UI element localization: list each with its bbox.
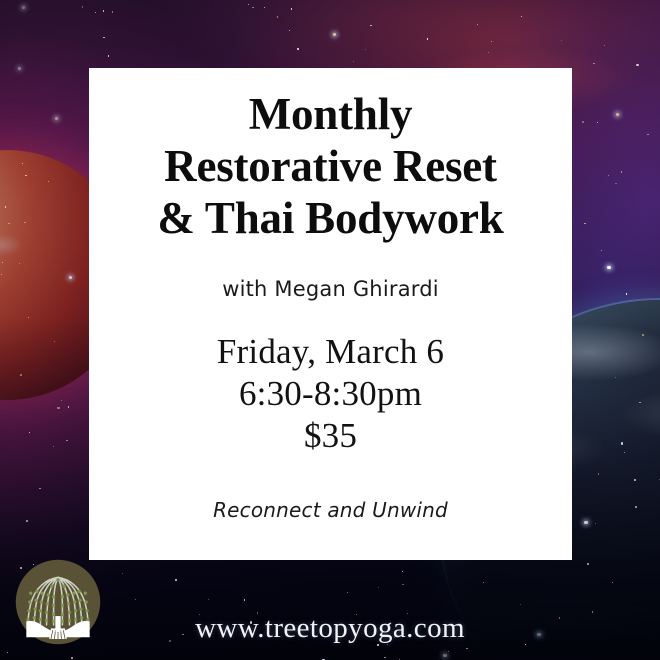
event-title-line-3: & Thai Bodywork <box>89 192 572 244</box>
event-title: Monthly Restorative Reset & Thai Bodywor… <box>89 88 572 244</box>
event-tagline: Reconnect and Unwind <box>213 498 448 522</box>
event-flyer: Monthly Restorative Reset & Thai Bodywor… <box>0 0 660 660</box>
treetop-yoga-logo <box>14 558 102 646</box>
flyer-content-card: Monthly Restorative Reset & Thai Bodywor… <box>89 68 572 560</box>
tree-icon <box>14 558 102 646</box>
event-price: $35 <box>217 415 444 457</box>
event-time: 6:30-8:30pm <box>217 373 444 415</box>
event-date: Friday, March 6 <box>217 331 444 373</box>
event-title-line-2: Restorative Reset <box>89 140 572 192</box>
event-title-line-1: Monthly <box>89 88 572 140</box>
event-details: Friday, March 6 6:30-8:30pm $35 <box>217 331 444 457</box>
presenter-name: with Megan Ghirardi <box>222 277 439 301</box>
